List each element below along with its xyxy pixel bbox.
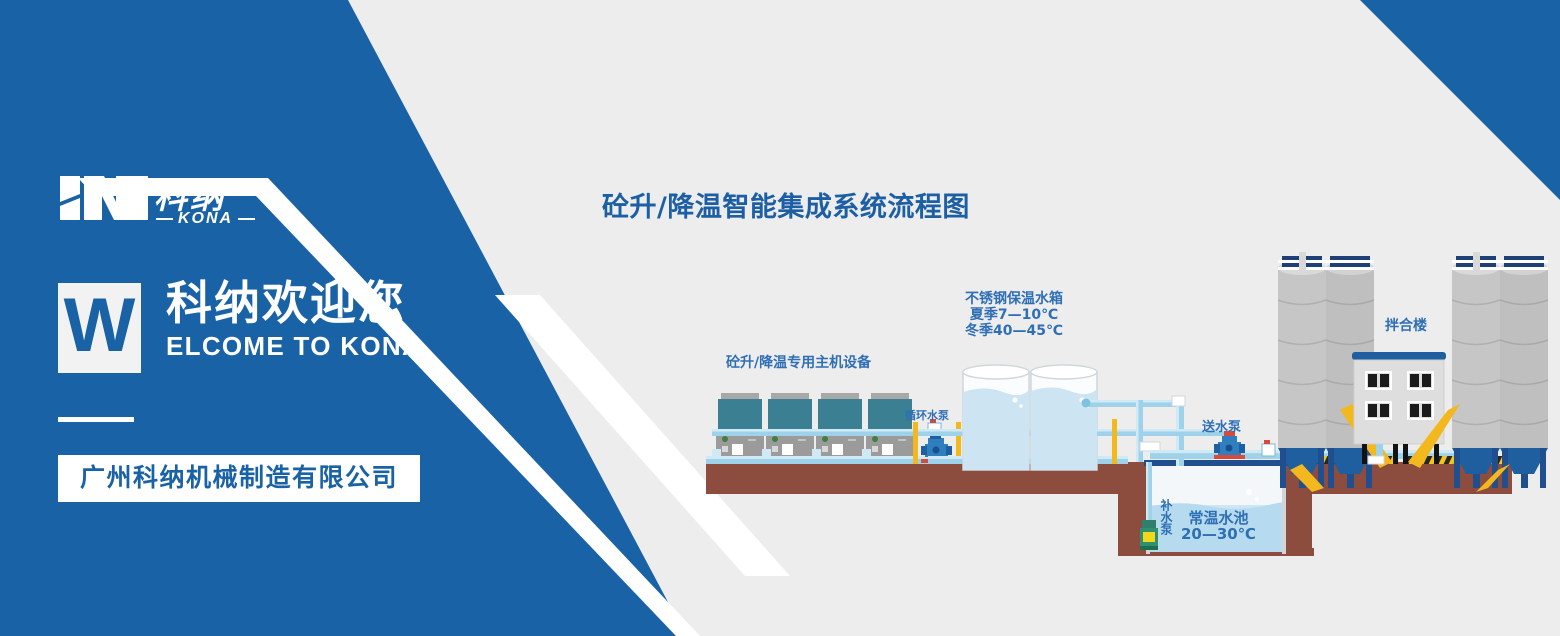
label-tank-line3: 冬季40—45℃: [965, 323, 1063, 339]
cement-silo: [1500, 256, 1548, 488]
company-name-box: 广州科纳机械制造有限公司: [58, 455, 420, 502]
logo-dash-left: [156, 218, 173, 221]
chiller-unit: [866, 393, 914, 462]
cement-silo: [1452, 252, 1500, 488]
ground-layer: [706, 462, 1512, 556]
welcome-text-group: 科纳欢迎您 ELCOME TO KONA: [166, 279, 422, 362]
label-refill-pump: 补水泵: [1160, 499, 1172, 535]
welcome-title-en: ELCOME TO KONA: [166, 331, 422, 362]
conveyor-belt: [1476, 464, 1510, 492]
conveyor-belt: [1290, 464, 1324, 492]
chiller-unit: [816, 393, 864, 462]
logo-english-row: KONA: [156, 210, 255, 228]
label-insulated-water-tank: 不锈钢保温水箱 夏季7—10℃ 冬季40—45℃: [965, 291, 1063, 340]
diagram-title: 砼升/降温智能集成系统流程图: [602, 185, 970, 224]
label-pool-line2: 20—30℃: [1181, 526, 1256, 542]
cement-silo-left-group: [1278, 252, 1392, 492]
welcome-block: W 科纳欢迎您 ELCOME TO KONA: [58, 283, 422, 373]
water-tank: [963, 365, 1029, 470]
conveyor-belt: [1408, 404, 1460, 468]
welcome-initial-box: W: [58, 283, 141, 373]
label-tank-line1: 不锈钢保温水箱: [965, 291, 1063, 307]
label-supply-pump: 送水泵: [1202, 420, 1241, 435]
section-divider: [58, 417, 134, 422]
label-ambient-pool: 常温水池 20—30℃: [1181, 510, 1256, 542]
supply-main-pipe: [1150, 440, 1485, 459]
cement-silo: [1278, 252, 1326, 488]
cement-silo-right-group: [1408, 252, 1548, 492]
pump-to-tank-pipe: [922, 429, 1128, 464]
chiller-unit: [716, 393, 764, 462]
brand-logo[interactable]: 科纳 KONA: [58, 168, 288, 230]
chiller-header-pipe: [712, 429, 922, 436]
label-chiller-equipment: 砼升/降温专用主机设备: [726, 355, 871, 371]
welcome-title-cn: 科纳欢迎您: [166, 279, 422, 329]
company-name-text: 广州科纳机械制造有限公司: [80, 465, 398, 490]
label-pool-line1: 常温水池: [1181, 510, 1256, 526]
water-tank-group: [963, 365, 1097, 470]
logo-dash-right: [238, 218, 255, 221]
chiller-unit: [766, 393, 814, 462]
left-panel: 科纳 KONA W 科纳欢迎您 ELCOME TO KONA 广州科纳机械制造有…: [58, 0, 498, 636]
background-blue-corner: [1360, 0, 1560, 200]
banner-root: 科纳 KONA W 科纳欢迎您 ELCOME TO KONA 广州科纳机械制造有…: [0, 0, 1560, 636]
circulation-pump-icon: [913, 419, 961, 464]
label-circulation-pump: 循环水泵: [905, 410, 949, 423]
welcome-initial-letter: W: [64, 288, 136, 364]
mixing-tower-building: [1352, 352, 1446, 464]
chiller-return-pipe: [706, 449, 928, 464]
chiller-unit-group: [716, 393, 914, 462]
cement-silo: [1326, 256, 1374, 488]
water-tank: [1031, 365, 1097, 470]
logo-english-text: KONA: [178, 210, 233, 228]
kn-monogram-icon: [58, 168, 150, 226]
refill-pump-icon: [1140, 462, 1158, 550]
conveyor-belt: [1340, 404, 1392, 468]
hazard-stripe-group: [1288, 456, 1508, 464]
label-tank-line2: 夏季7—10℃: [965, 307, 1063, 323]
supply-pump-icon: [1214, 431, 1245, 459]
label-mixing-tower: 拌合楼: [1385, 318, 1427, 334]
